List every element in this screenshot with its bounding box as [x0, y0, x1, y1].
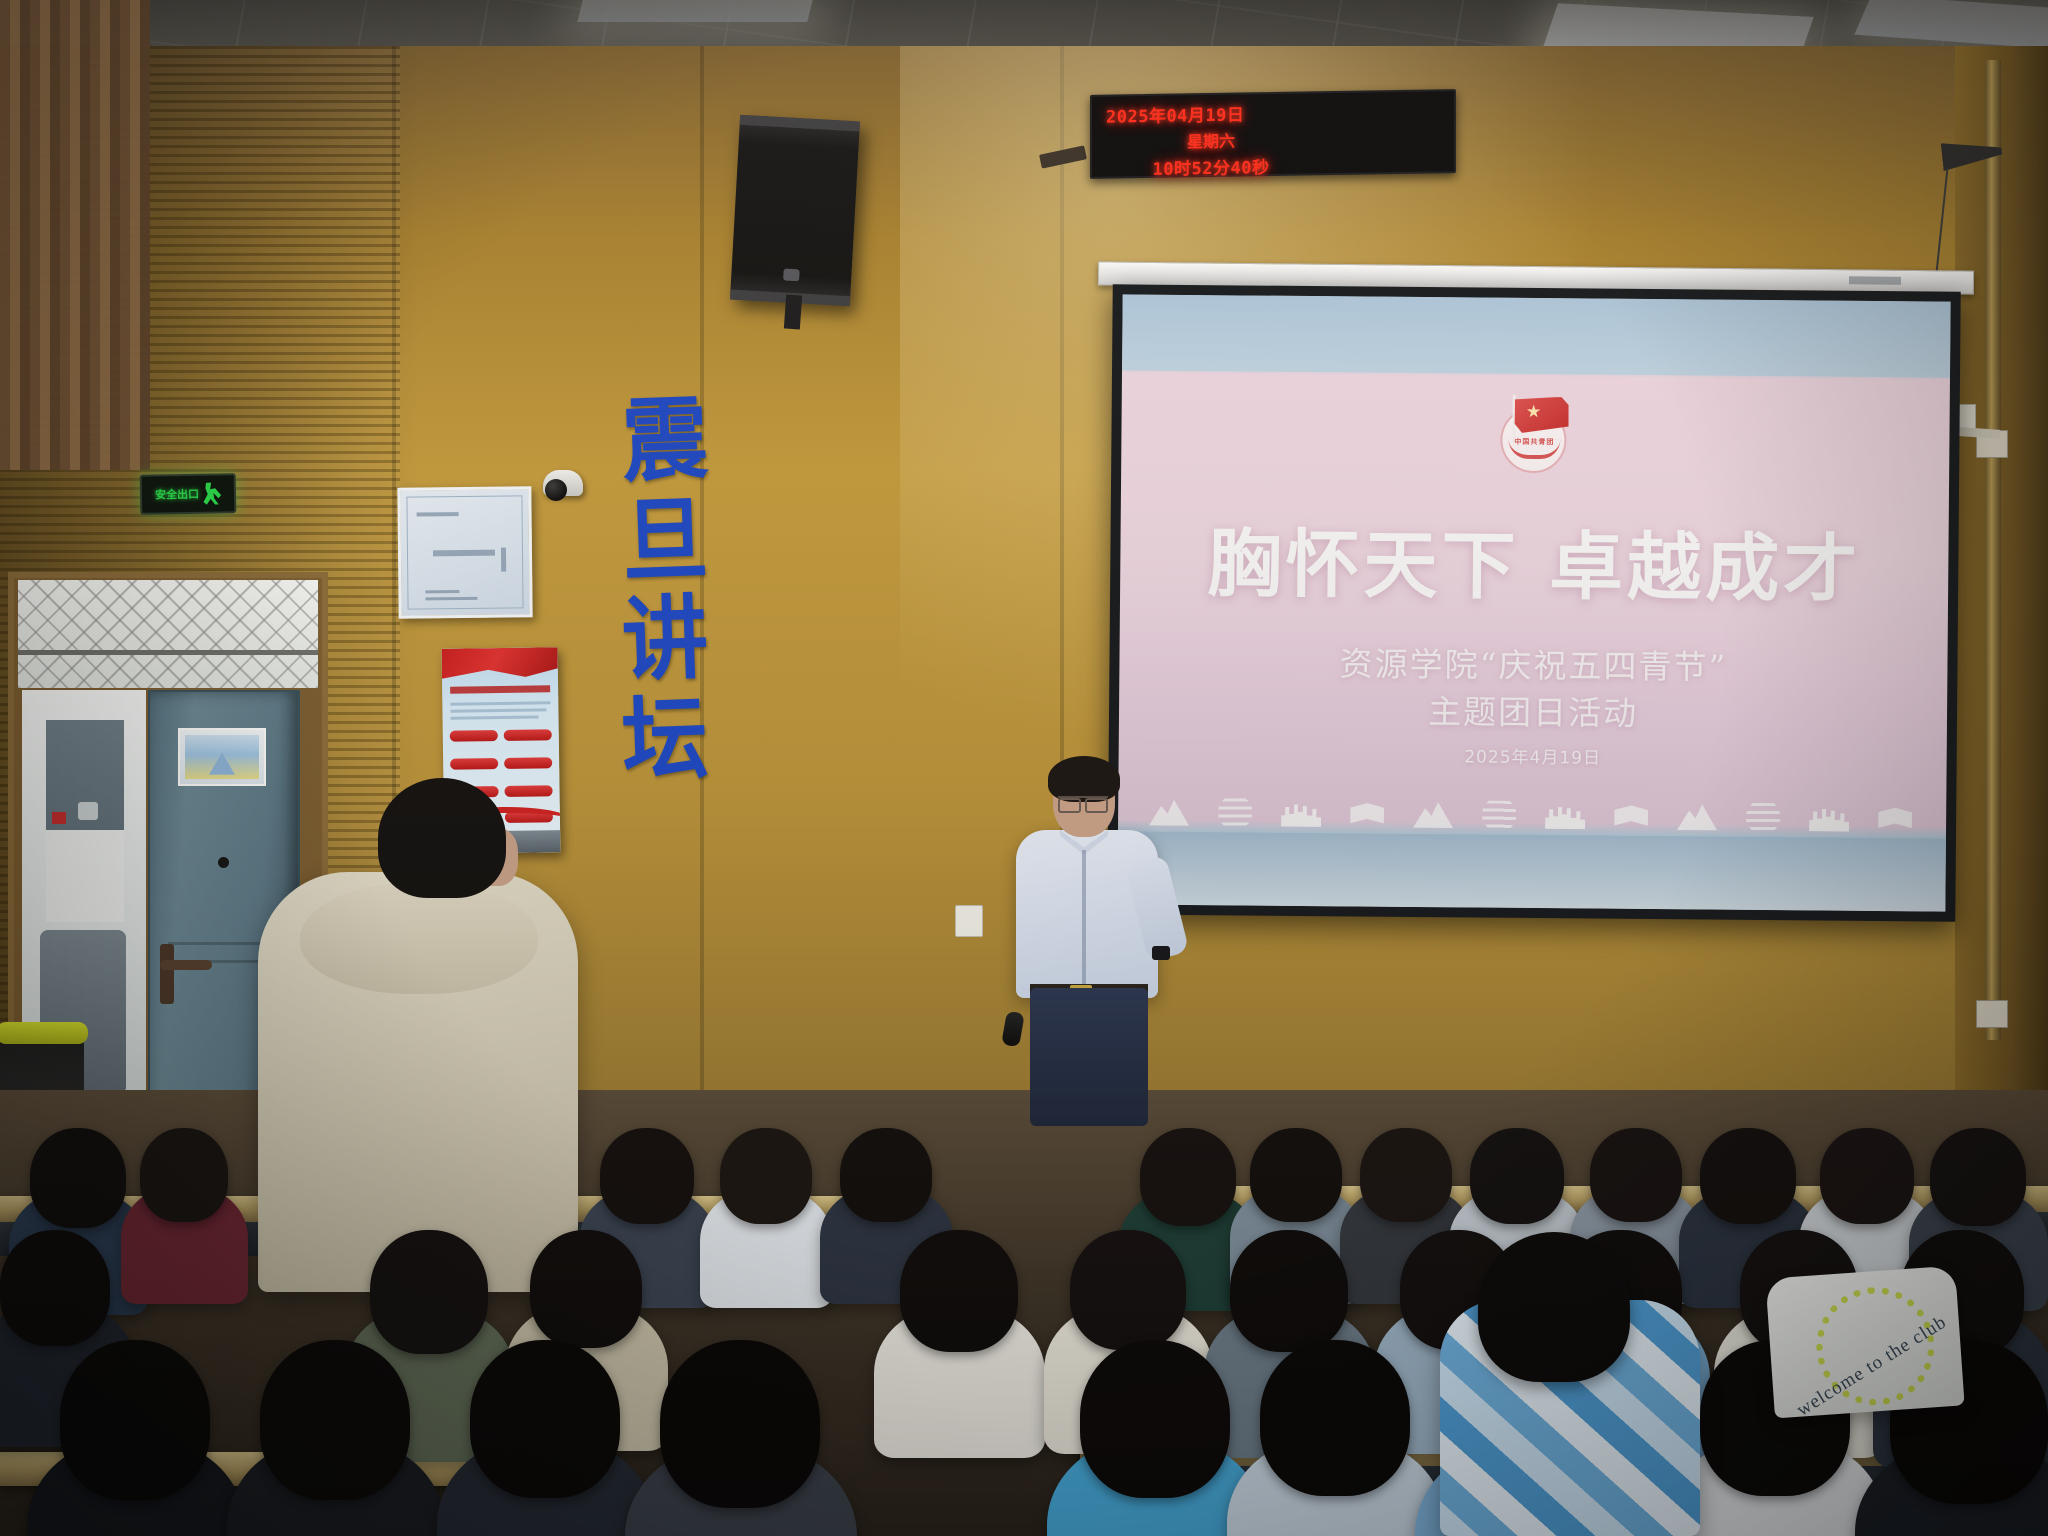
corridor-cabinet-panel [46, 830, 124, 922]
audience-member-head [660, 1340, 820, 1508]
audience-member-head [1070, 1230, 1186, 1350]
door-lock-plate[interactable] [160, 944, 174, 1004]
audience-member-head [600, 1128, 694, 1224]
projected-slide: 中国共青团 胸怀天下 卓越成才 资源学院“庆祝五四青节” 主题团日活动 2025… [1117, 294, 1950, 911]
evacuation-map-image [185, 735, 259, 779]
audience-member-head [470, 1340, 620, 1498]
right-wall-column [1955, 46, 2048, 1106]
wall-loudspeaker [730, 115, 860, 306]
audience-member-head [840, 1128, 932, 1222]
door-peephole [218, 857, 229, 868]
standing-student-hood [300, 882, 538, 994]
wall-power-outlet [955, 905, 983, 937]
audience-member-head [1140, 1128, 1236, 1226]
audience-member-head [1250, 1128, 1342, 1222]
audience-member [660, 1340, 820, 1536]
led-time: 10时52分40秒 [1106, 152, 1316, 180]
door-transom-window [18, 580, 318, 688]
calligraphy-char-1: 震 [621, 396, 710, 486]
wall-pipe [1985, 60, 2001, 1040]
audience-member [1080, 1340, 1230, 1536]
presenter-wristwatch [1152, 946, 1170, 960]
cabinet-button[interactable] [78, 802, 98, 820]
audience-member-head [1590, 1128, 1682, 1222]
led-weekday: 星期六 [1106, 126, 1316, 153]
trash-bin-lid [0, 1022, 88, 1044]
audience-member-hoodie: welcome to the club [1765, 1266, 1964, 1419]
notice-line [425, 590, 459, 593]
notice-line [425, 597, 477, 601]
led-text-block: 2025年04月19日 星期六 10时52分40秒 [1106, 99, 1316, 180]
wall-notice-sign [397, 486, 532, 618]
audience-member [140, 1128, 228, 1342]
poster-text-line [450, 708, 546, 712]
audience-member-head [720, 1128, 812, 1224]
audience-member-head [1700, 1128, 1796, 1224]
audience-member-head [1080, 1340, 1230, 1498]
lecture-hall-photo: 震 旦 讲 坛 2025年04月19日 星期六 10时52分40秒 安全出口 [0, 0, 2048, 1536]
poster-text-line [451, 715, 539, 719]
exit-sign-label-left: 安全出口 [155, 486, 199, 503]
housing-brand-logo [1849, 276, 1901, 285]
audience-member-head [1260, 1340, 1410, 1496]
audience-member-head [530, 1230, 642, 1348]
audience-member-head [1470, 1128, 1564, 1224]
audience-member [900, 1230, 1018, 1472]
audience-member-head [1360, 1128, 1452, 1222]
audience-member-head [1930, 1128, 2026, 1226]
audience-member-head [900, 1230, 1018, 1352]
slide-projection-veil [1117, 294, 1950, 911]
standing-student-hair [378, 778, 506, 898]
audience-member [60, 1340, 210, 1536]
poster-chip [504, 729, 552, 741]
presenter-glasses-icon [1058, 796, 1108, 810]
audience-member-head [1478, 1232, 1630, 1382]
audience-member [260, 1340, 410, 1536]
calligraphy-char-3: 讲 [621, 595, 710, 685]
window-curtain [0, 0, 150, 470]
calligraphy-char-4: 坛 [621, 695, 710, 785]
audience-member-head [0, 1230, 110, 1346]
audience-member-head [1820, 1128, 1914, 1224]
pipe-clip [1976, 1000, 2008, 1028]
security-camera [543, 470, 583, 496]
evacuation-map-shape [209, 753, 235, 775]
evacuation-map-sign [178, 728, 266, 786]
wall-calligraphy: 震 旦 讲 坛 [605, 400, 725, 781]
led-clock-display: 2025年04月19日 星期六 10时52分40秒 [1090, 89, 1456, 179]
notice-side-tab [501, 548, 506, 572]
emergency-exit-sign: 安全出口 [140, 473, 237, 515]
running-man-icon [203, 482, 221, 504]
speaker-badge [783, 268, 800, 281]
speaker-bracket [784, 294, 802, 329]
poster-chip [450, 730, 498, 742]
presenter-shirt-placket [1082, 850, 1086, 990]
projection-screen-frame: 中国共青团 胸怀天下 卓越成才 资源学院“庆祝五四青节” 主题团日活动 2025… [1107, 284, 1960, 921]
audience-member-head [260, 1340, 410, 1500]
audience-member-head [370, 1230, 488, 1354]
audience-member-head [1230, 1230, 1348, 1352]
transom-lattice-grille [18, 580, 318, 688]
led-date: 2025年04月19日 [1106, 99, 1316, 127]
calligraphy-char-2: 旦 [621, 496, 710, 586]
audience-member-head [60, 1340, 210, 1500]
audience-member [470, 1340, 620, 1536]
cabinet-indicator [52, 812, 66, 824]
audience-member-head [30, 1128, 126, 1228]
poster-chip [450, 758, 498, 770]
audience-member-head [140, 1128, 228, 1222]
poster-chip [504, 785, 552, 797]
notice-line [433, 550, 495, 557]
presenter-trousers [1030, 988, 1148, 1126]
audience-member [720, 1128, 812, 1344]
camera-lens-icon [545, 479, 567, 501]
poster-text-line [450, 701, 550, 705]
poster-chip [504, 757, 552, 769]
poster-title-bar [450, 685, 550, 693]
notice-line [417, 512, 459, 516]
door-handle[interactable] [160, 960, 212, 970]
transom-mullion [18, 650, 318, 655]
chinese-flag-graphic [442, 647, 558, 683]
audience-member [1260, 1340, 1410, 1536]
